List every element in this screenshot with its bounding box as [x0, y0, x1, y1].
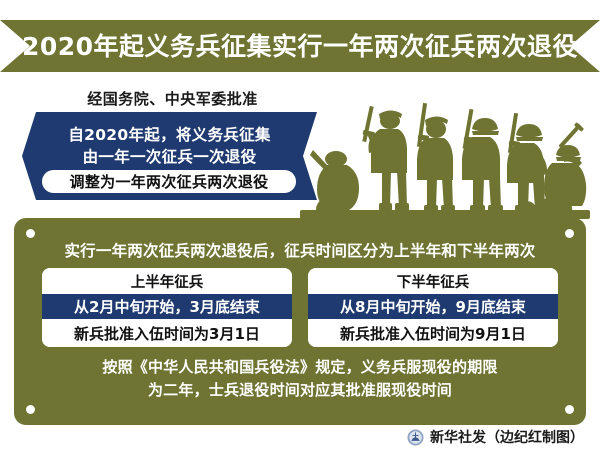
- card-period-band: 从2月中旬开始，3月底结束: [42, 294, 292, 319]
- adjustment-pill: 调整为一年两次征兵两次退役: [40, 168, 298, 195]
- panel-note: 按照《中华人民共和国兵役法》规定，义务兵服现役的期限 为二年，士兵退役时间对应其…: [14, 356, 586, 402]
- soldier-standing-4: [507, 113, 547, 212]
- page-title: 2020年起义务兵征集实行一年两次征兵两次退役: [22, 34, 578, 59]
- credit: 新华社发（边纪红制图）: [407, 427, 584, 447]
- panel-note-line-2: 为二年，士兵退役时间对应其批准服现役时间: [14, 379, 586, 402]
- panel-heading: 实行一年两次征兵两次退役后，征兵时间区分为上半年和下半年两次: [14, 239, 586, 261]
- soldier-standing-2: [417, 103, 455, 212]
- title-banner: 2020年起义务兵征集实行一年两次征兵两次退役: [0, 20, 600, 72]
- panel-note-line-1: 按照《中华人民共和国兵役法》规定，义务兵服现役的期限: [14, 356, 586, 379]
- approval-line: 经国务院、中央军委批准: [40, 88, 305, 109]
- adjustment-pill-label: 调整为一年两次征兵两次退役: [70, 171, 269, 192]
- soldier-kneeling-left: [310, 150, 359, 210]
- xinhua-emblem-icon: [407, 429, 424, 446]
- card-second-half-year: 下半年征兵 从8月中旬开始，9月底结束 新兵批准入伍时间为9月1日: [308, 268, 558, 347]
- infographic-root: 2020年起义务兵征集实行一年两次征兵两次退役: [0, 0, 600, 453]
- soldier-standing-1: [362, 106, 409, 211]
- ribbon-line-2: 由一年一次征兵一次退役: [22, 145, 317, 167]
- soldier-standing-3: [462, 109, 503, 212]
- screw-dot-top-right-icon: [565, 229, 574, 238]
- card-title: 下半年征兵: [308, 268, 558, 294]
- soldier-silhouettes: [300, 95, 600, 220]
- screw-dot-top-left-icon: [26, 229, 35, 238]
- card-enlistment-date: 新兵批准入伍时间为9月1日: [308, 319, 558, 347]
- card-period-band: 从8月中旬开始，9月底结束: [308, 294, 558, 319]
- card-title: 上半年征兵: [42, 268, 292, 294]
- screw-dot-bottom-left-icon: [26, 405, 35, 414]
- main-panel: 实行一年两次征兵两次退役后，征兵时间区分为上半年和下半年两次 上半年征兵 从2月…: [14, 218, 586, 425]
- ribbon-line-1: 自2020年起，将义务兵征集: [22, 123, 317, 145]
- credit-label: 新华社发（边纪红制图）: [430, 427, 584, 447]
- card-enlistment-date: 新兵批准入伍时间为3月1日: [42, 319, 292, 347]
- card-first-half-year: 上半年征兵 从2月中旬开始，3月底结束 新兵批准入伍时间为3月1日: [42, 268, 292, 347]
- screw-dot-bottom-right-icon: [565, 405, 574, 414]
- recruitment-cards: 上半年征兵 从2月中旬开始，3月底结束 新兵批准入伍时间为3月1日 下半年征兵 …: [42, 268, 558, 347]
